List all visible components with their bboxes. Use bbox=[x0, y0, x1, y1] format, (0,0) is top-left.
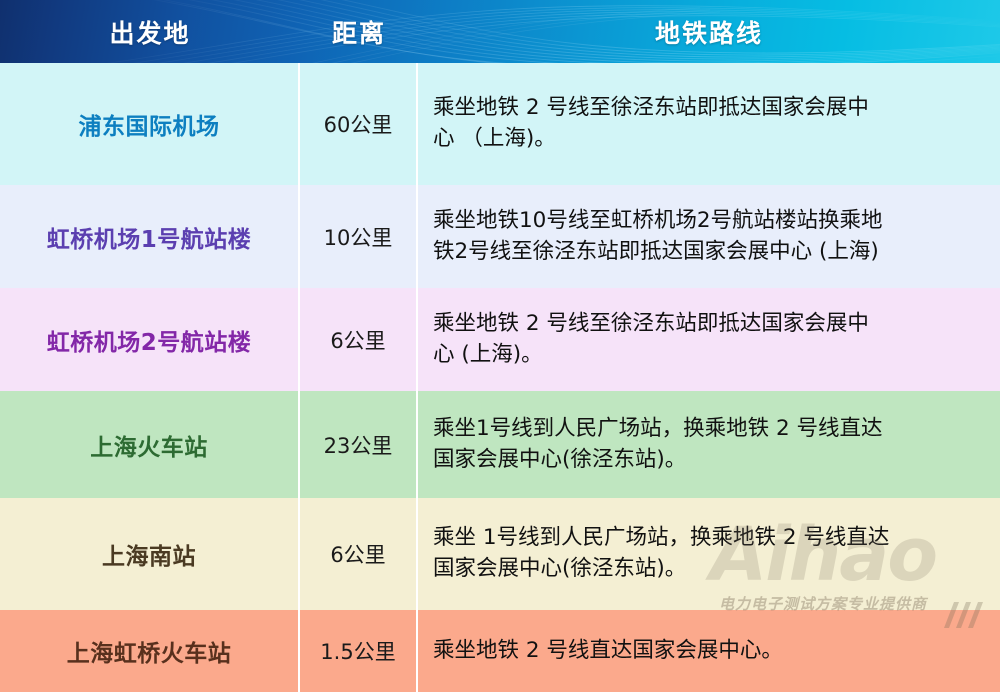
cell-route: 乘坐地铁 2 号线至徐泾东站即抵达国家会展中心 (上海)。 bbox=[418, 288, 1000, 391]
cell-route: 乘坐地铁 2 号线直达国家会展中心。 bbox=[418, 610, 1000, 692]
cell-origin: 浦东国际机场 bbox=[0, 63, 300, 185]
cell-route: 乘坐1号线到人民广场站，换乘地铁 2 号线直达国家会展中心(徐泾东站)。 bbox=[418, 391, 1000, 498]
table-header: 出发地 距离 地铁路线 bbox=[0, 0, 1000, 63]
route-line: 国家会展中心(徐泾东站)。 bbox=[433, 554, 889, 585]
column-header-route: 地铁路线 bbox=[418, 14, 1000, 50]
route-line: 国家会展中心(徐泾东站)。 bbox=[433, 445, 883, 476]
cell-distance: 60公里 bbox=[300, 63, 418, 185]
column-header-distance: 距离 bbox=[300, 14, 418, 50]
route-line: 乘坐地铁 2 号线直达国家会展中心。 bbox=[433, 636, 783, 667]
cell-distance: 10公里 bbox=[300, 185, 418, 288]
table-row: 上海南站6公里乘坐 1号线到人民广场站，换乘地铁 2 号线直达国家会展中心(徐泾… bbox=[0, 498, 1000, 610]
route-line: 乘坐地铁 2 号线至徐泾东站即抵达国家会展中 bbox=[433, 93, 869, 124]
cell-distance: 23公里 bbox=[300, 391, 418, 498]
route-line: 乘坐 1号线到人民广场站，换乘地铁 2 号线直达 bbox=[433, 523, 889, 554]
route-line: 心 (上海)。 bbox=[433, 340, 869, 371]
cell-route: 乘坐地铁 2 号线至徐泾东站即抵达国家会展中心 （上海)。 bbox=[418, 63, 1000, 185]
cell-distance: 1.5公里 bbox=[300, 610, 418, 692]
cell-distance: 6公里 bbox=[300, 288, 418, 391]
cell-origin: 虹桥机场1号航站楼 bbox=[0, 185, 300, 288]
cell-origin: 上海火车站 bbox=[0, 391, 300, 498]
cell-route: 乘坐地铁10号线至虹桥机场2号航站楼站换乘地铁2号线至徐泾东站即抵达国家会展中心… bbox=[418, 185, 1000, 288]
table-row: 虹桥机场1号航站楼10公里乘坐地铁10号线至虹桥机场2号航站楼站换乘地铁2号线至… bbox=[0, 185, 1000, 288]
cell-route: 乘坐 1号线到人民广场站，换乘地铁 2 号线直达国家会展中心(徐泾东站)。 bbox=[418, 498, 1000, 610]
metro-route-table: 出发地 距离 地铁路线 浦东国际机场60公里乘坐地铁 2 号线至徐泾东站即抵达国… bbox=[0, 0, 1000, 692]
header-row: 出发地 距离 地铁路线 bbox=[0, 0, 1000, 63]
cell-distance: 6公里 bbox=[300, 498, 418, 610]
route-line: 铁2号线至徐泾东站即抵达国家会展中心 (上海) bbox=[433, 237, 883, 268]
table-row: 上海火车站23公里乘坐1号线到人民广场站，换乘地铁 2 号线直达国家会展中心(徐… bbox=[0, 391, 1000, 498]
cell-origin: 上海虹桥火车站 bbox=[0, 610, 300, 692]
cell-origin: 上海南站 bbox=[0, 498, 300, 610]
route-line: 乘坐地铁 2 号线至徐泾东站即抵达国家会展中 bbox=[433, 309, 869, 340]
table-row: 浦东国际机场60公里乘坐地铁 2 号线至徐泾东站即抵达国家会展中心 （上海)。 bbox=[0, 63, 1000, 185]
table-body: 浦东国际机场60公里乘坐地铁 2 号线至徐泾东站即抵达国家会展中心 （上海)。虹… bbox=[0, 63, 1000, 692]
table-row: 虹桥机场2号航站楼6公里乘坐地铁 2 号线至徐泾东站即抵达国家会展中心 (上海)… bbox=[0, 288, 1000, 391]
route-line: 心 （上海)。 bbox=[433, 124, 869, 155]
route-line: 乘坐1号线到人民广场站，换乘地铁 2 号线直达 bbox=[433, 414, 883, 445]
column-header-origin: 出发地 bbox=[0, 14, 300, 50]
route-line: 乘坐地铁10号线至虹桥机场2号航站楼站换乘地 bbox=[433, 206, 883, 237]
table-row: 上海虹桥火车站1.5公里乘坐地铁 2 号线直达国家会展中心。 bbox=[0, 610, 1000, 692]
cell-origin: 虹桥机场2号航站楼 bbox=[0, 288, 300, 391]
